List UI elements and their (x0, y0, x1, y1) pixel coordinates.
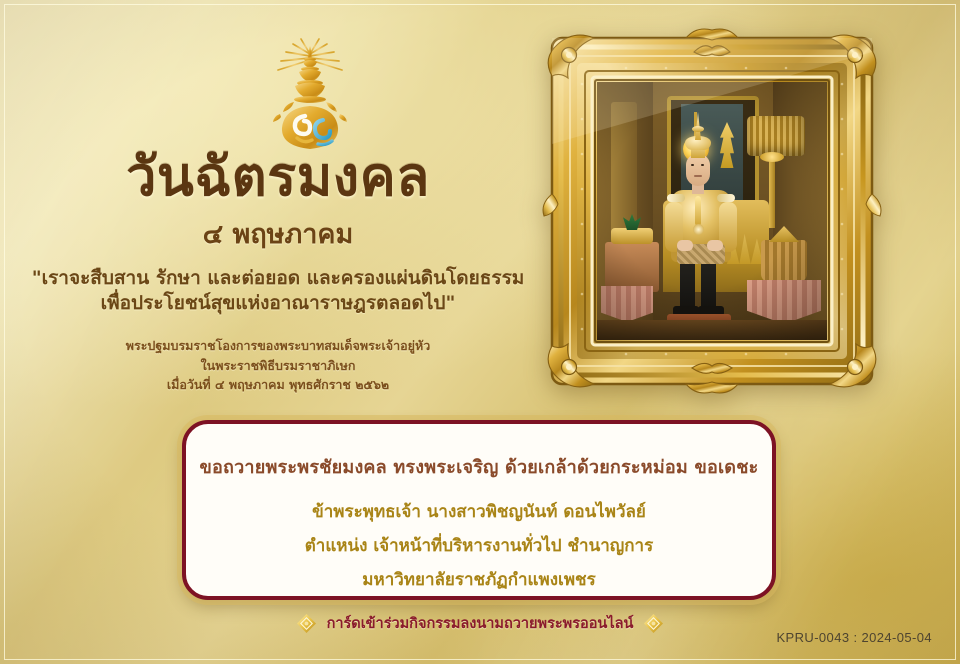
commemorative-card: วันฉัตรมงคล ๔ พฤษภาคม "เราจะสืบสาน รักษา… (0, 0, 960, 664)
royal-quote-line-2: เพื่อประโยชน์สุขแห่งอาณาราษฎรตลอดไป" (18, 291, 538, 316)
signer-name: ข้าพระพุทธเจ้า นางสาวพิชญนันท์ ดอนไพวัลย… (312, 498, 646, 525)
ornate-gold-baroque-frame (536, 24, 888, 396)
signer-position: ตำแหน่ง เจ้าหน้าที่บริหารงานทั่วไป ชำนาญ… (305, 532, 653, 559)
royal-quote-line-1: "เราจะสืบสาน รักษา และต่อยอด และครองแผ่น… (18, 266, 538, 291)
headline-block: วันฉัตรมงคล ๔ พฤษภาคม "เราจะสืบสาน รักษา… (18, 150, 538, 394)
attribution-line-2: ในพระราชพิธีบรมราชาภิเษก (18, 356, 538, 375)
page-title: วันฉัตรมงคล (18, 150, 538, 204)
attribution-line-1: พระปฐมบรมราชโองการของพระบาทสมเด็จพระเจ้า… (18, 336, 538, 355)
blessing-message-panel: ขอถวายพระพรชัยมงคล ทรงพระเจริญ ด้วยเกล้า… (182, 420, 776, 600)
footer-label: การ์ดเข้าร่วมกิจกรรมลงนามถวายพระพรออนไลน… (327, 612, 634, 635)
quote-attribution: พระปฐมบรมราชโองการของพระบาทสมเด็จพระเจ้า… (18, 336, 538, 394)
blessing-line-1: ขอถวายพระพรชัยมงคล ทรงพระเจริญ ด้วยเกล้า… (200, 452, 759, 481)
attribution-line-3: เมื่อวันที่ ๔ พฤษภาคม พุทธศักราช ๒๕๖๒ (18, 375, 538, 394)
card-reference-code: KPRU-0043 : 2024-05-04 (776, 630, 932, 645)
page-subtitle-date: ๔ พฤษภาคม (18, 212, 538, 255)
gold-diamond-ornament-icon (297, 614, 316, 633)
royal-cypher-icon (258, 28, 362, 152)
royal-portrait-framed (536, 24, 888, 396)
signer-organization: มหาวิทยาลัยราชภัฏกำแพงเพชร (362, 566, 595, 593)
gold-diamond-ornament-icon (644, 614, 663, 633)
royal-quote: "เราจะสืบสาน รักษา และต่อยอด และครองแผ่น… (18, 266, 538, 316)
